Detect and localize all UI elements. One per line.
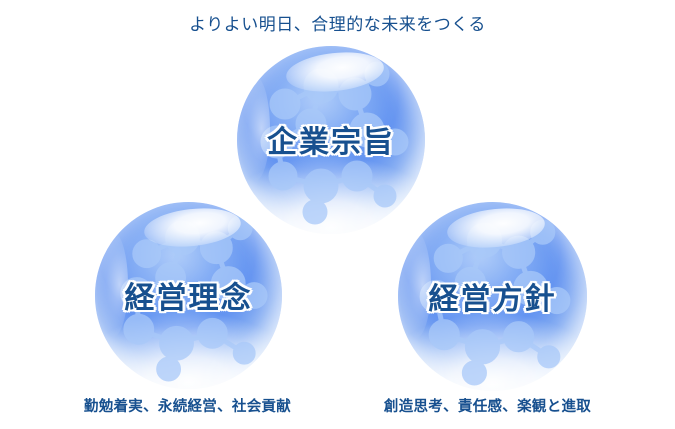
slide-canvas: よりよい明日、合理的な未来をつくる <box>0 0 675 429</box>
sphere-philosophy-label: 経営理念 <box>95 273 282 317</box>
sphere-philosophy[interactable]: 経営理念 <box>95 202 282 389</box>
sphere-purpose-label: 企業宗旨 <box>237 117 425 161</box>
sphere-policy[interactable]: 経営方針 <box>398 202 587 391</box>
caption-policy: 創造思考、責任感、楽観と進取 <box>300 395 675 416</box>
sphere-policy-label: 経営方針 <box>398 274 587 318</box>
sphere-purpose[interactable]: 企業宗旨 <box>237 46 425 234</box>
sphere-gloss-highlight <box>142 204 243 251</box>
sphere-gloss-highlight <box>284 48 385 96</box>
headline-text: よりよい明日、合理的な未来をつくる <box>0 10 675 35</box>
sphere-gloss-highlight <box>445 204 547 252</box>
